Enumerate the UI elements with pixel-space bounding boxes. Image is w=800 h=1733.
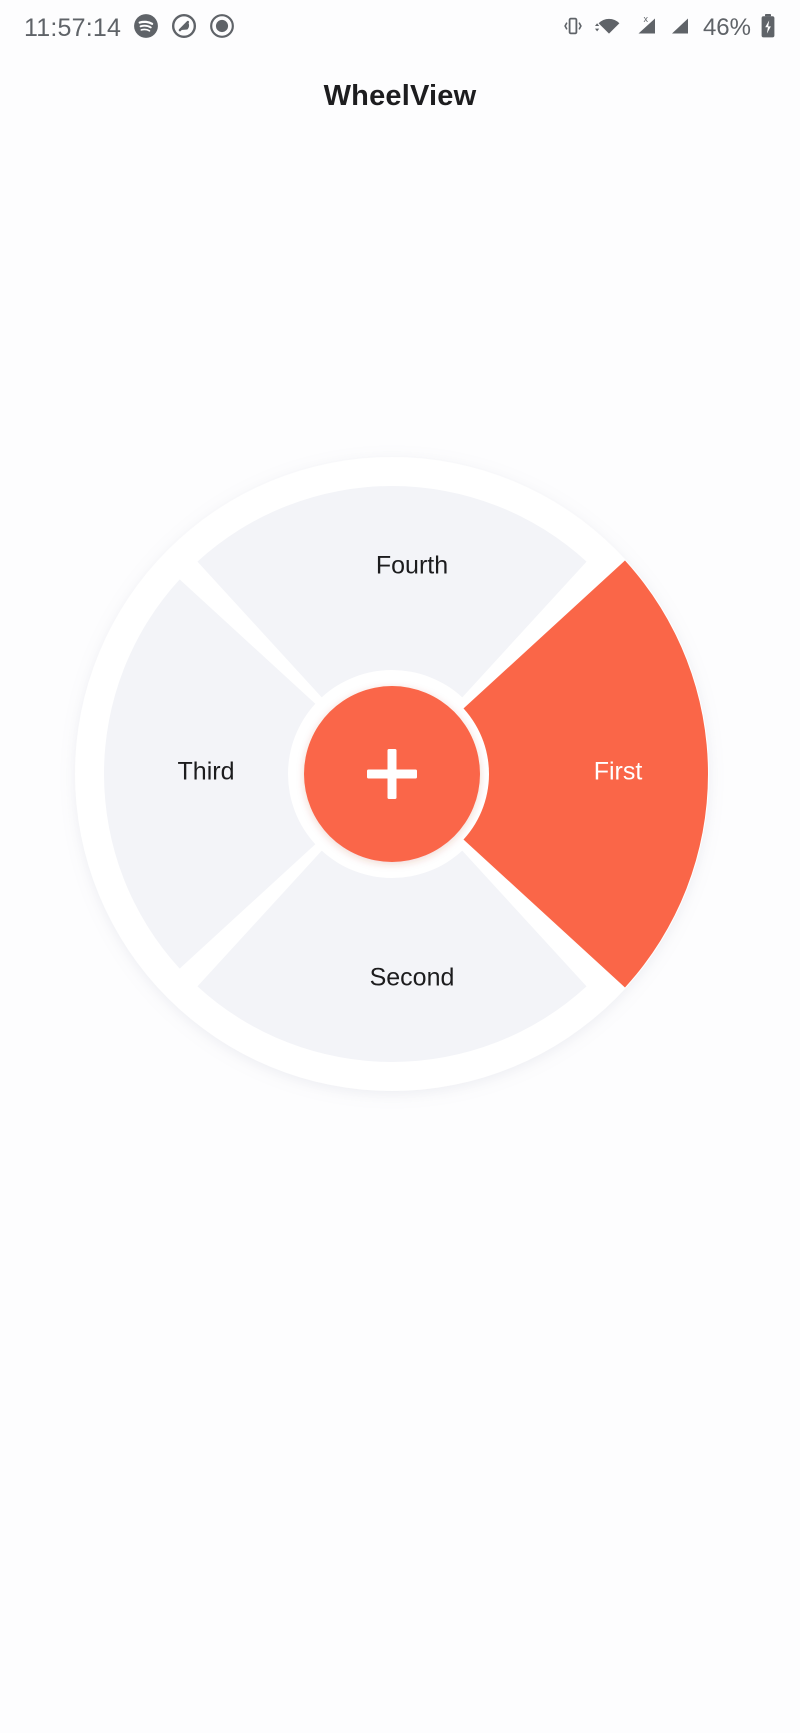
wifi-icon bbox=[594, 14, 624, 43]
wheel-segment-label-second: Second bbox=[370, 964, 455, 992]
spotify-icon bbox=[133, 13, 159, 44]
battery-percent-label: 46% bbox=[703, 14, 751, 42]
do-not-disturb-icon bbox=[171, 13, 197, 44]
wheel-svg[interactable]: FirstSecondThirdFourth bbox=[50, 430, 750, 1130]
signal-no-service-icon: x bbox=[633, 14, 659, 43]
status-bar-clock: 11:57:14 bbox=[24, 14, 121, 43]
svg-text:x: x bbox=[643, 14, 648, 24]
wheel-center-button[interactable] bbox=[304, 686, 480, 862]
page-title: WheelView bbox=[0, 80, 800, 113]
vibrate-icon bbox=[561, 14, 585, 43]
wheel-segment-label-third: Third bbox=[178, 758, 235, 786]
battery-charging-icon bbox=[760, 13, 776, 44]
status-bar-left: 11:57:14 bbox=[24, 13, 235, 44]
phone-screen: 11:57:14 bbox=[0, 0, 800, 1733]
screen-record-icon bbox=[209, 13, 235, 44]
status-bar-right: x 46% bbox=[561, 13, 776, 44]
wheel-segment-label-first: First bbox=[594, 758, 643, 786]
wheel-view[interactable]: FirstSecondThirdFourth bbox=[0, 430, 800, 1130]
signal-bars-icon bbox=[668, 14, 692, 43]
wheel-segment-label-fourth: Fourth bbox=[376, 552, 448, 580]
status-bar: 11:57:14 bbox=[0, 0, 800, 56]
